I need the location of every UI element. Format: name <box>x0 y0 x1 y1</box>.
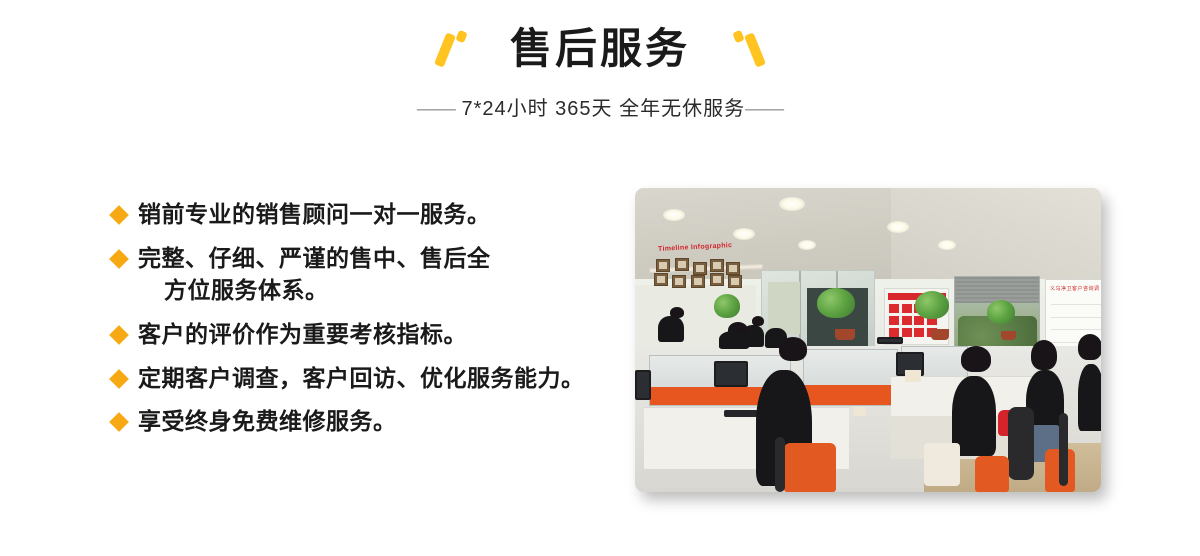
diamond-bullet-icon <box>109 412 129 432</box>
chair-frame <box>1059 413 1068 486</box>
wall-plaque <box>693 262 707 275</box>
office-chair <box>975 456 1009 492</box>
desk-papers <box>854 407 866 416</box>
computer-monitor <box>635 370 651 400</box>
worker-skirt <box>924 443 960 486</box>
potted-plant <box>817 288 855 318</box>
page-title: 售后服务 <box>510 28 690 70</box>
wall-plaque <box>675 258 689 271</box>
office-photo-content: Timeline Infographic <box>635 188 1101 492</box>
potted-plant <box>915 291 949 319</box>
potted-plant <box>714 294 740 318</box>
subtitle-rule-left: —— <box>417 98 455 120</box>
list-item: 客户的评价作为重要考核指标。 <box>112 318 632 351</box>
downlight-icon <box>798 240 816 250</box>
title-row: 售后服务 <box>0 18 1200 80</box>
after-sales-service-banner: 售后服务 —— 7*24小时 365天 全年无休服务—— 销前专业的销售顾问一对… <box>0 0 1200 556</box>
subtitle-rule-right: —— <box>745 98 783 120</box>
list-item-label: 享受终身免费维修服务。 <box>138 408 397 434</box>
page-subtitle: —— 7*24小时 365天 全年无休服务—— <box>0 92 1200 121</box>
wall-plaque <box>654 273 668 286</box>
list-item-label: 销前专业的销售顾问一对一服务。 <box>138 201 491 227</box>
chair-frame <box>1008 407 1034 480</box>
wall-plaque <box>728 275 742 288</box>
plant-pot <box>835 329 855 340</box>
worker-background <box>658 316 684 342</box>
worker-hair <box>1031 340 1057 370</box>
computer-monitor <box>714 361 748 387</box>
wall-plaque <box>710 273 724 286</box>
list-item-label-line2: 方位服务体系。 <box>138 274 632 307</box>
chair-frame <box>775 437 785 492</box>
list-item: 享受终身免费维修服务。 <box>112 405 632 438</box>
window-blind <box>955 277 1039 303</box>
worker-hair <box>752 316 764 326</box>
office-chair <box>784 443 836 492</box>
subtitle-text: 7*24小时 365天 全年无休服务 <box>461 98 745 120</box>
list-item: 完整、仔细、严谨的售中、售后全 方位服务体系。 <box>112 242 632 307</box>
diamond-bullet-icon <box>109 205 129 225</box>
keyboard <box>724 410 758 417</box>
potted-plant <box>987 300 1015 324</box>
worker-hair <box>779 337 807 361</box>
diamond-bullet-icon <box>109 325 129 345</box>
list-item: 定期客户调查，客户回访、优化服务能力。 <box>112 362 632 395</box>
plant-pot <box>931 329 949 340</box>
plant-pot <box>1001 331 1016 340</box>
office-photo: Timeline Infographic <box>635 188 1101 492</box>
wall-plaque <box>710 259 724 272</box>
wall-plaque <box>726 262 740 275</box>
wall-plaque <box>691 275 705 288</box>
wall-plaque <box>656 259 670 272</box>
list-item-label: 定期客户调查，客户回访、优化服务能力。 <box>138 365 585 391</box>
list-item: 销前专业的销售顾问一对一服务。 <box>112 198 632 231</box>
diamond-bullet-icon <box>109 249 129 269</box>
wall-plaque <box>672 275 686 288</box>
downlight-icon <box>938 240 956 250</box>
worker-hair <box>961 346 991 372</box>
worker-hair <box>670 307 684 318</box>
worker-hair <box>1078 334 1101 360</box>
downlight-icon <box>733 228 755 240</box>
cubicle-partition <box>803 349 898 406</box>
list-item-label: 完整、仔细、严谨的售中、售后全 <box>138 245 491 271</box>
feature-list: 销前专业的销售顾问一对一服务。 完整、仔细、严谨的售中、售后全 方位服务体系。 … <box>112 198 632 449</box>
list-item-label: 客户的评价作为重要考核指标。 <box>138 321 467 347</box>
slash-mark-right-icon <box>724 27 768 71</box>
inner-window <box>768 282 801 334</box>
desk-printer <box>877 337 903 344</box>
worker-seated <box>1078 364 1101 431</box>
worker-seated <box>719 331 749 349</box>
whiteboard-title: 义乌净卫客户咨询调 <box>1050 285 1100 292</box>
diamond-bullet-icon <box>109 369 129 389</box>
slash-mark-left-icon <box>432 27 476 71</box>
ceiling-right <box>891 188 1101 285</box>
desk-papers <box>905 370 921 382</box>
